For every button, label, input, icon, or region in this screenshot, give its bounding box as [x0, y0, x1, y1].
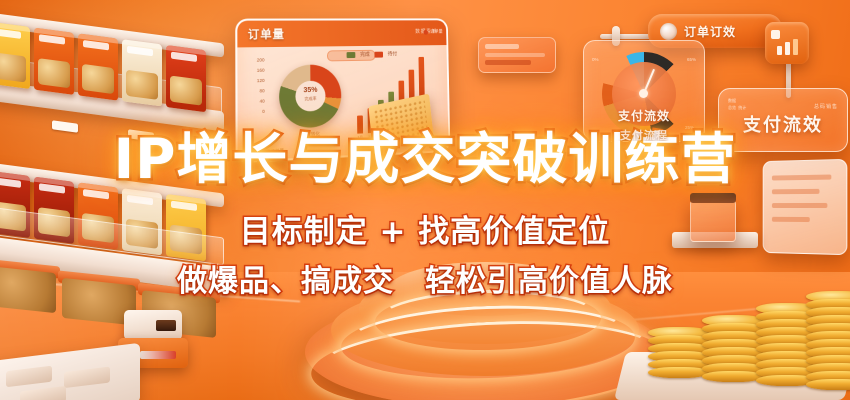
tag-label: 订单订效: [684, 23, 736, 40]
dashboard-footer-legend: 月度订单量: [248, 148, 284, 156]
gauge-sublabel: 支付流程: [584, 127, 704, 142]
snack-package: [0, 22, 30, 89]
dashboard-title: 订单量: [248, 26, 285, 43]
legend-label: 月度订单量: [261, 148, 284, 155]
glowing-circular-podium: [305, 288, 665, 400]
legend-swatch-icon: [248, 150, 256, 156]
y-axis-labels: 20016012080400: [244, 55, 265, 117]
coin-stack: [648, 330, 710, 378]
badge-bar: [793, 39, 798, 55]
snack-package: [78, 33, 118, 100]
coin-stack: [702, 318, 764, 382]
legend-swatch-icon: [374, 51, 383, 57]
glass-cube-prop: [690, 200, 736, 242]
gauge-tick-min: 0%: [592, 57, 599, 62]
gauge-tick-max: 65%: [687, 57, 696, 62]
payment-efficiency-gauge-card[interactable]: 0% 65% 25% 支付流效 支付流程: [583, 40, 705, 142]
badge-bar: [785, 42, 790, 55]
slab-block: [20, 386, 66, 400]
payment-efficiency-card[interactable]: 数据总览 统计 总码销售 支付流效: [718, 88, 848, 152]
dashboard-top-legend: 订单量: [423, 29, 443, 35]
snack-package: [166, 45, 206, 112]
slab-block: [6, 366, 52, 388]
analytics-dashboard-screen[interactable]: 订单量 数据看板 订单量 20016012080400 完成 待付 35% 完成…: [235, 18, 450, 163]
price-tag: [128, 129, 154, 141]
legend-swatch-icon: [423, 29, 428, 34]
x-tick: 1月: [357, 135, 363, 140]
badge-square-icon: [771, 30, 780, 39]
promo-poster: 订单量 数据看板 订单量 20016012080400 完成 待付 35% 完成…: [0, 0, 850, 400]
right-side-screen: [763, 159, 848, 255]
card-big-label: 支付流效: [719, 111, 847, 137]
bar-chart-badge-icon[interactable]: [765, 22, 809, 64]
tag-dot-icon: [660, 23, 677, 40]
screen-row: [772, 174, 831, 180]
card-header-right: 总码销售: [814, 103, 838, 110]
gauge-label: 支付流效: [584, 107, 704, 124]
price-tag: [52, 120, 78, 132]
floating-data-card[interactable]: [478, 37, 556, 73]
retail-shelf-display: [0, 0, 228, 330]
card-line: [485, 60, 531, 65]
legend-swatch-icon: [347, 52, 356, 58]
card-line: [485, 44, 519, 49]
snack-package: [122, 39, 162, 106]
snack-package: [34, 28, 74, 95]
card-header-left: 数据总览 统计: [728, 97, 746, 111]
screen-row: [772, 217, 810, 222]
screen-row: [772, 189, 820, 194]
gauge-hub-icon: [639, 89, 648, 98]
coin-stack: [806, 294, 850, 390]
slab-block: [64, 366, 110, 388]
bar: [357, 115, 363, 133]
badge-bar: [777, 46, 782, 55]
screen-row: [772, 203, 827, 208]
card-line: [485, 53, 545, 57]
donut-caption: 本月转化: [279, 130, 341, 139]
cube-top-face: [690, 193, 736, 203]
legend-label: 订单量: [430, 29, 442, 35]
terminal-screen: [124, 310, 182, 340]
